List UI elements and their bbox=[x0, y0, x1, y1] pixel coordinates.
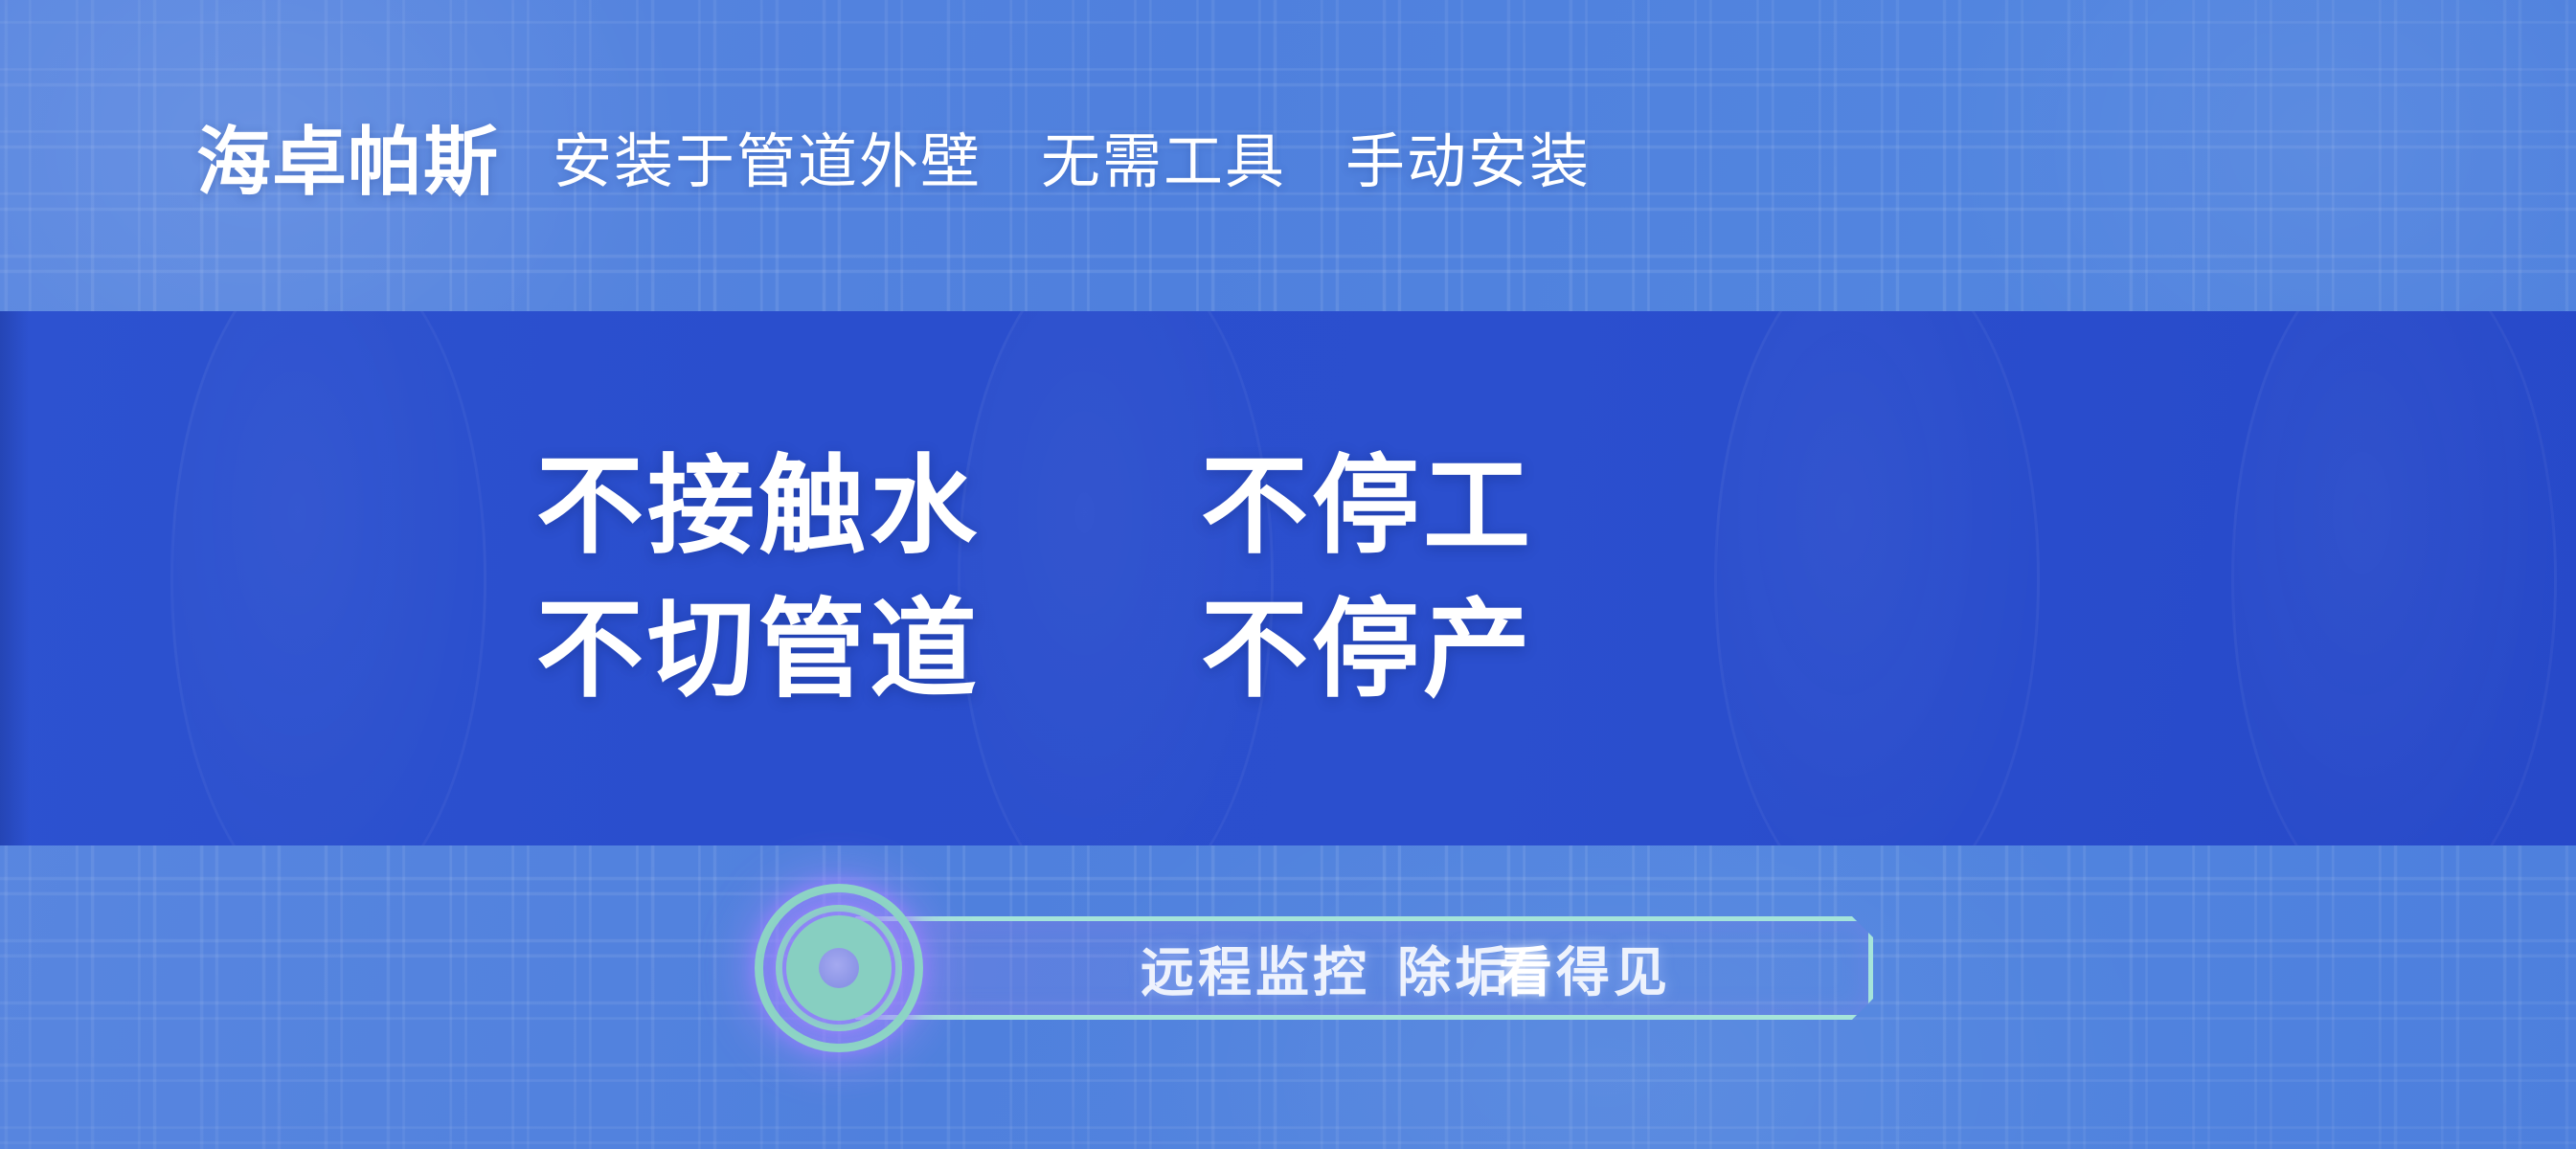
tagline-group: 安装于管道外壁 无需工具 手动安装 bbox=[553, 113, 1591, 199]
brand-name: 海卓帕斯 bbox=[196, 102, 499, 210]
banner-header: 海卓帕斯 安装于管道外壁 无需工具 手动安装 bbox=[0, 0, 2576, 311]
tagline-no-tools: 无需工具 bbox=[1041, 113, 1286, 199]
claims-container: 不接触水 不切管道 不停工 不停产 bbox=[0, 311, 2576, 845]
radar-core-dot bbox=[819, 948, 859, 988]
tagline-install-location: 安装于管道外壁 bbox=[553, 113, 982, 199]
claim-no-production-halt: 不停产 bbox=[1201, 587, 1534, 713]
claim-no-pipe-cutting: 不切管道 bbox=[536, 587, 981, 713]
monitoring-pill-text: 远程监控 除垢 看 得见 bbox=[1141, 930, 1671, 1007]
badge-zone: 远程监控 除垢 看 得见 bbox=[0, 845, 2576, 1149]
monitoring-badge[interactable]: 远程监控 除垢 看 得见 bbox=[753, 882, 1873, 1054]
badge-text-remote-monitoring: 远程监控 bbox=[1141, 930, 1370, 1007]
badge-text-visible: 得见 bbox=[1556, 930, 1671, 1007]
badge-text-highlight-see: 看 bbox=[1499, 930, 1556, 1007]
claim-column-left: 不接触水 不切管道 bbox=[536, 443, 981, 713]
monitoring-pill[interactable]: 远程监控 除垢 看 得见 bbox=[835, 916, 1873, 1020]
claim-column-right: 不停工 不停产 bbox=[1201, 443, 1534, 713]
tagline-manual-install: 手动安装 bbox=[1345, 113, 1591, 199]
claims-band: 不接触水 不切管道 不停工 不停产 bbox=[0, 311, 2576, 845]
radar-target-icon bbox=[753, 882, 925, 1054]
claim-no-work-stoppage: 不停工 bbox=[1201, 443, 1534, 570]
promo-banner: 海卓帕斯 安装于管道外壁 无需工具 手动安装 不接触水 不切管道 不停工 不停产 bbox=[0, 0, 2576, 1149]
claim-no-water-contact: 不接触水 bbox=[536, 443, 981, 570]
badge-text-descale: 除垢 bbox=[1397, 930, 1512, 1007]
